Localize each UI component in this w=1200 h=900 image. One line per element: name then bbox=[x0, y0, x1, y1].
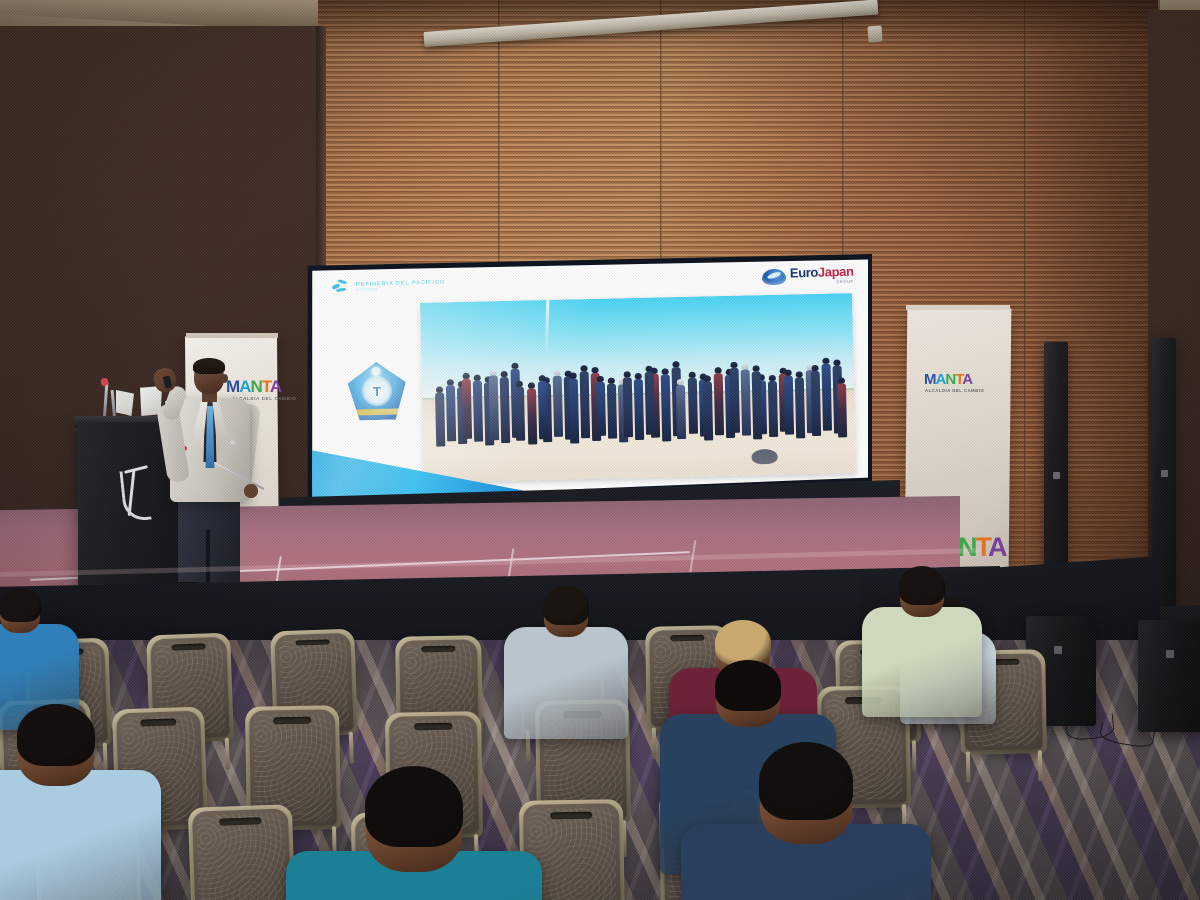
banquet-chair[interactable] bbox=[188, 804, 297, 900]
audience-hair bbox=[365, 766, 463, 847]
audience-torso bbox=[504, 627, 628, 739]
chair-handle bbox=[550, 811, 592, 819]
chair-leg bbox=[1038, 750, 1043, 781]
chair-handle bbox=[414, 723, 453, 731]
chair-fabric bbox=[196, 812, 288, 900]
chair-handle bbox=[172, 643, 206, 650]
chair-leg bbox=[966, 752, 971, 783]
audience-hair bbox=[759, 742, 853, 820]
chair-leg bbox=[652, 728, 657, 759]
audience-torso bbox=[862, 607, 982, 717]
chair-handle bbox=[140, 718, 177, 726]
audience-hair bbox=[899, 566, 945, 605]
audience-hair bbox=[543, 586, 589, 625]
chair-leg bbox=[225, 738, 230, 771]
audience-hair bbox=[715, 660, 781, 711]
audience-torso bbox=[0, 770, 161, 900]
chair-handle bbox=[670, 635, 704, 641]
audience-hair bbox=[715, 620, 771, 665]
audience-hair bbox=[17, 704, 95, 766]
audience-hair bbox=[0, 588, 41, 622]
chair-leg bbox=[912, 740, 917, 771]
chair-leg bbox=[349, 732, 354, 764]
presentation-room-photo: Euro Japan GROUP REFINERIA DEL PACIFICO … bbox=[0, 0, 1200, 900]
chair-handle bbox=[273, 717, 311, 724]
audience-seating bbox=[0, 0, 1200, 900]
chair-handle bbox=[421, 645, 455, 652]
